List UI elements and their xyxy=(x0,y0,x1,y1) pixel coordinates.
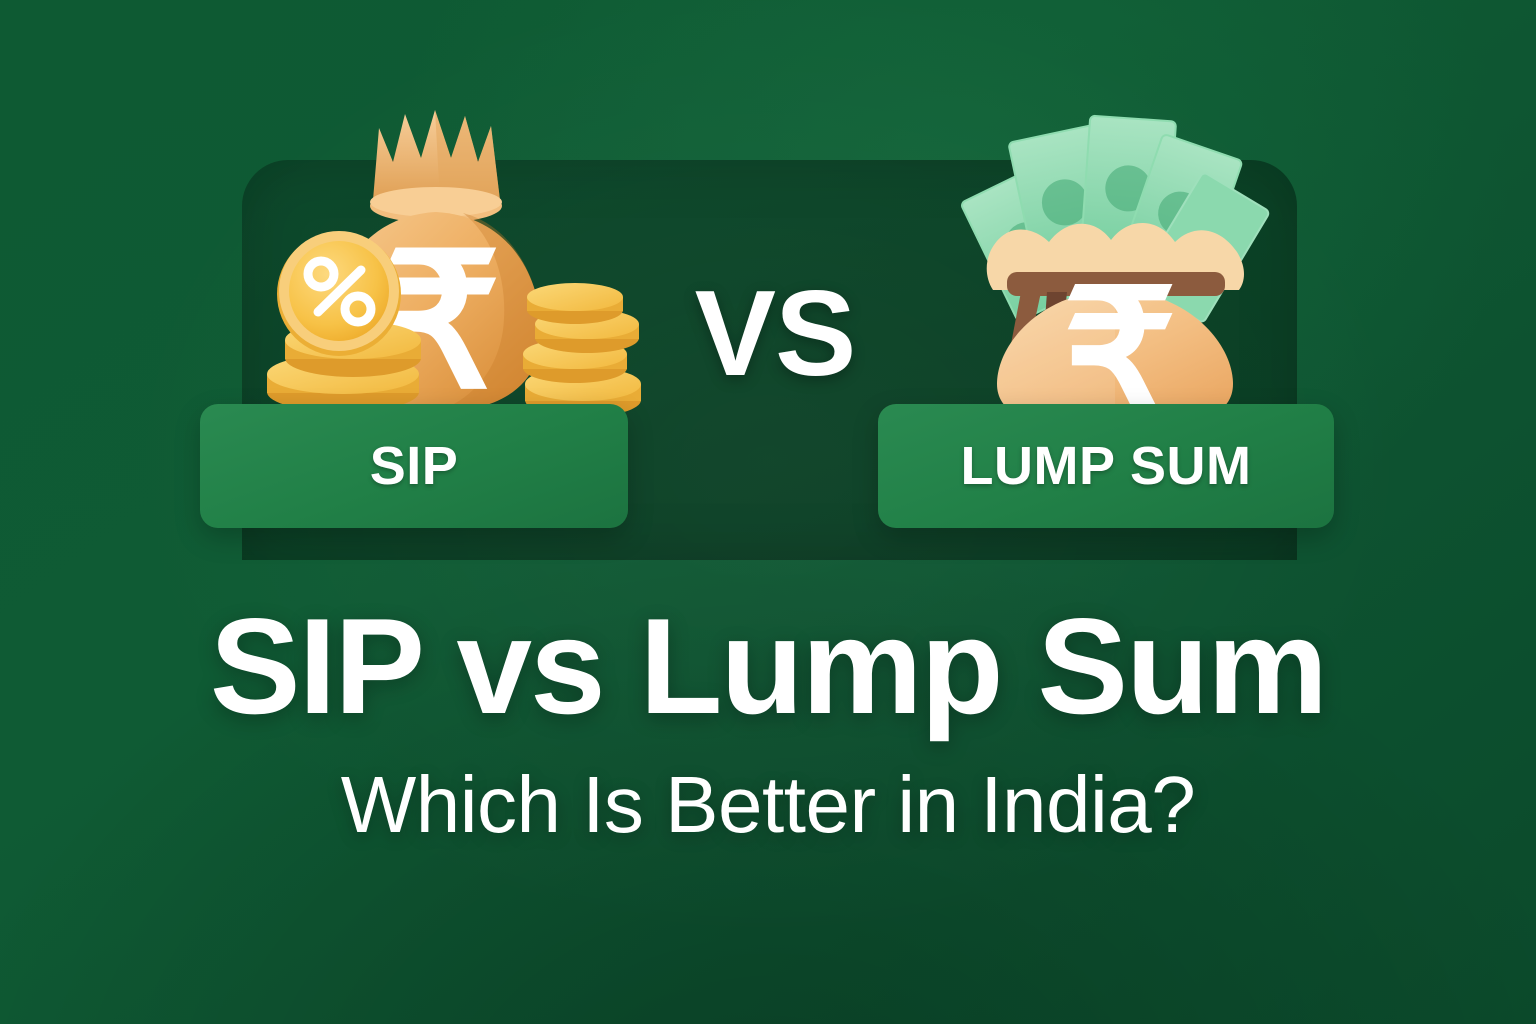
vs-label: VS xyxy=(690,272,860,394)
thumbnail-canvas: ₹ xyxy=(0,0,1536,1024)
sip-illustration: ₹ xyxy=(235,100,655,430)
sip-bag-top xyxy=(373,110,500,200)
percent-coin-badge xyxy=(277,231,401,356)
headline-block: SIP vs Lump Sum Which Is Better in India… xyxy=(0,596,1536,849)
lump-sum-label-text: LUMP SUM xyxy=(960,435,1251,497)
lump-sum-label-card[interactable]: LUMP SUM xyxy=(878,404,1334,528)
lump-sum-illustration: ₹ xyxy=(955,100,1285,430)
coin-stack-right xyxy=(523,283,641,417)
page-title: SIP vs Lump Sum xyxy=(0,596,1536,737)
sip-label-card[interactable]: SIP xyxy=(200,404,628,528)
sip-label-text: SIP xyxy=(370,435,459,497)
page-subtitle: Which Is Better in India? xyxy=(0,761,1536,849)
